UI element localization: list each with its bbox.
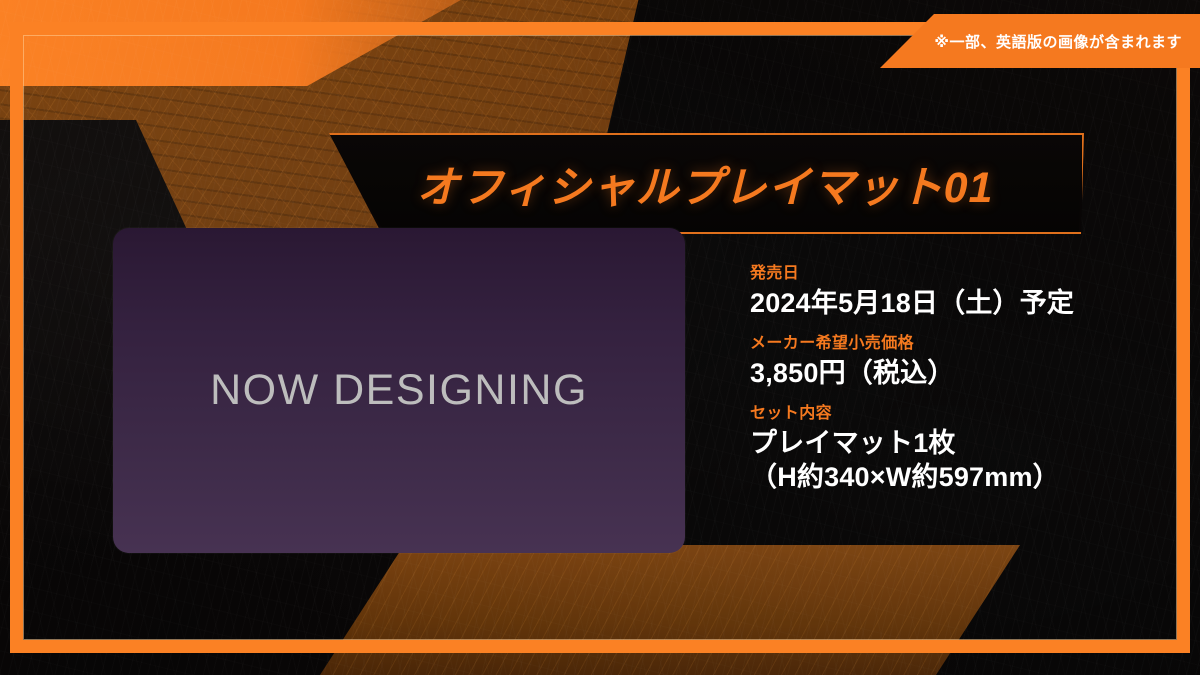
spec-value-set-contents: プレイマット1枚 （H約340×W約597mm）: [750, 426, 1160, 494]
spec-value-price: 3,850円（税込）: [750, 356, 1160, 390]
spec-row-release-date: 発売日 2024年5月18日（土）予定: [750, 264, 1160, 320]
note-banner: ※一部、英語版の画像が含まれます: [880, 14, 1200, 68]
spec-row-set-contents: セット内容 プレイマット1枚 （H約340×W約597mm）: [750, 404, 1160, 494]
spec-label-price: メーカー希望小売価格: [750, 334, 1160, 354]
spec-value-release-date: 2024年5月18日（土）予定: [750, 286, 1160, 320]
note-banner-text: ※一部、英語版の画像が含まれます: [934, 31, 1182, 52]
spec-label-set-contents: セット内容: [750, 404, 1160, 424]
title-banner: オフィシャルプレイマット01: [326, 133, 1084, 234]
product-image-placeholder: NOW DESIGNING: [113, 228, 685, 553]
spec-label-release-date: 発売日: [750, 264, 1160, 284]
spec-value-line: プレイマット1枚: [750, 426, 1160, 460]
spec-value-line: （H約340×W約597mm）: [750, 460, 1160, 494]
promo-slide: ※一部、英語版の画像が含まれます オフィシャルプレイマット01 NOW DESI…: [0, 0, 1200, 675]
spec-value-line: 2024年5月18日（土）予定: [750, 286, 1160, 320]
page-title: オフィシャルプレイマット01: [326, 133, 1084, 234]
spec-value-line: 3,850円（税込）: [750, 356, 1160, 390]
spec-row-price: メーカー希望小売価格 3,850円（税込）: [750, 334, 1160, 390]
product-placeholder-label: NOW DESIGNING: [210, 366, 588, 415]
spec-list: 発売日 2024年5月18日（土）予定 メーカー希望小売価格 3,850円（税込…: [750, 264, 1160, 494]
